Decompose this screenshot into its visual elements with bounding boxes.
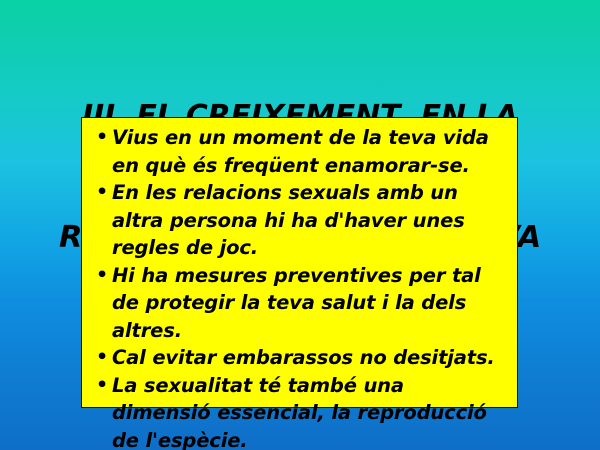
bullet-item: • Cal evitar embarassos no desitjats. (92, 344, 509, 372)
bullet-list: • Vius en un moment de la teva vida en q… (92, 124, 509, 450)
presentation-slide: III. EL CREIXEMENT EN LA RELACIÓ SEXUAL … (0, 0, 600, 450)
content-text-box: • Vius en un moment de la teva vida en q… (81, 117, 518, 408)
bullet-item: • Hi ha mesures preventives per tal de p… (92, 262, 509, 345)
bullet-item: • Vius en un moment de la teva vida en q… (92, 124, 509, 179)
bullet-item-text: La sexualitat té també una dimensió esse… (112, 372, 509, 450)
bullet-dot-icon: • (96, 179, 110, 207)
bullet-item-text: En les relacions sexuals amb un altra pe… (112, 179, 509, 262)
bullet-dot-icon: • (96, 372, 110, 400)
bullet-dot-icon: • (96, 344, 110, 372)
bullet-dot-icon: • (96, 262, 110, 290)
bullet-item-text: Hi ha mesures preventives per tal de pro… (112, 262, 509, 345)
bullet-item: • La sexualitat té també una dimensió es… (92, 372, 509, 450)
bullet-item-text: Cal evitar embarassos no desitjats. (112, 344, 509, 372)
bullet-dot-icon: • (96, 124, 110, 152)
bullet-item-text: Vius en un moment de la teva vida en què… (112, 124, 509, 179)
bullet-item: • En les relacions sexuals amb un altra … (92, 179, 509, 262)
